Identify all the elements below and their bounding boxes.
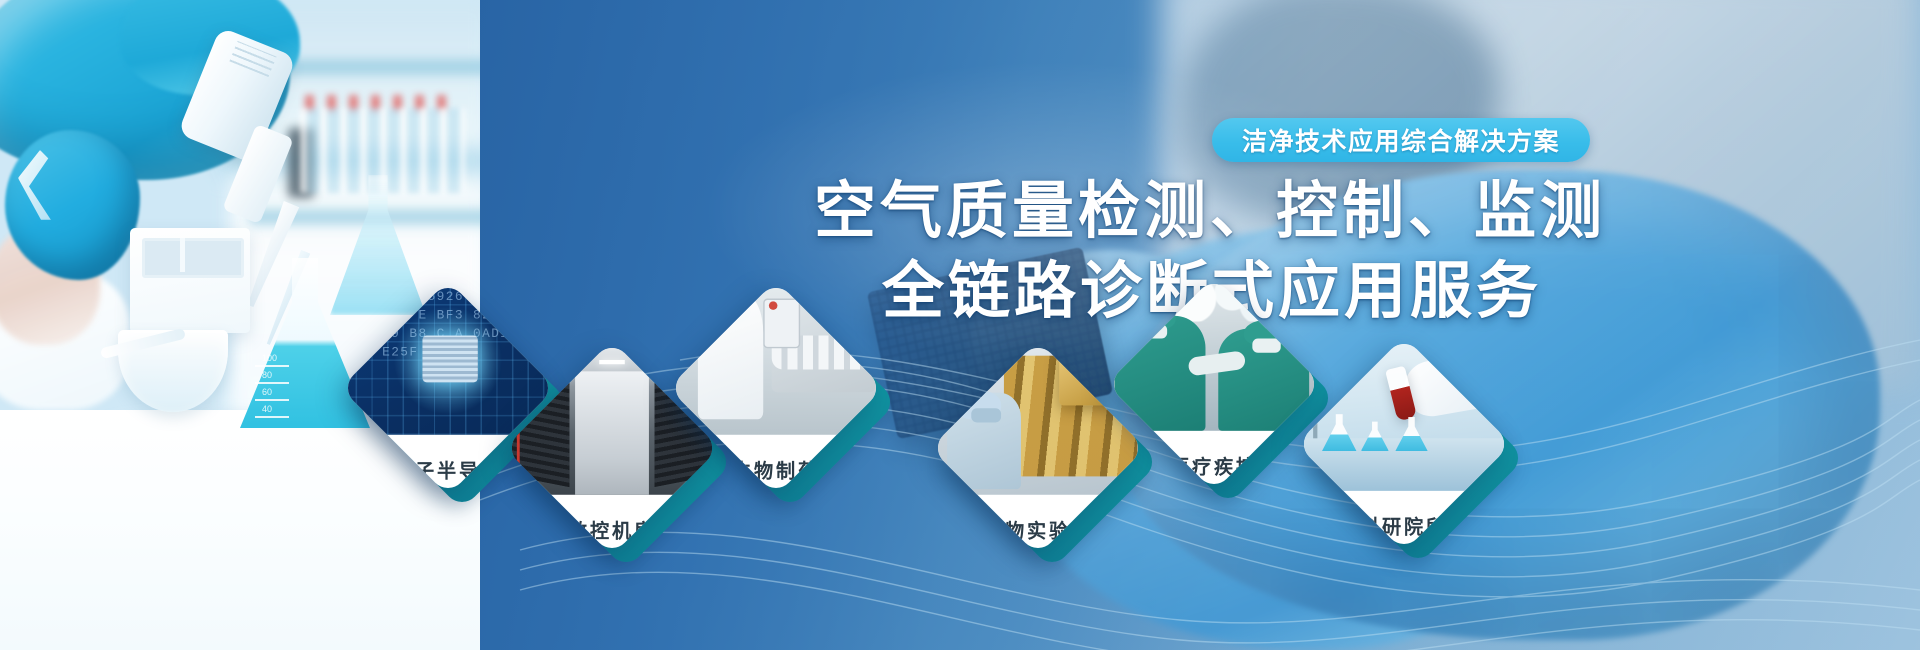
suit-visor (711, 300, 743, 308)
suit-hood (707, 293, 750, 324)
server-room-icon (505, 341, 720, 496)
card-photo (1297, 337, 1512, 492)
ceiling-light (599, 360, 625, 364)
card-photo: A E2 F D 5926 7 8 3 1 E2C A 0 E BF3 8269… (341, 281, 556, 436)
card-face[interactable]: 科研院所 (1297, 337, 1512, 552)
card-face[interactable]: 动物实验室 (931, 341, 1146, 556)
hero-banner: 100806040 (0, 0, 1920, 650)
surgical-lights (1166, 281, 1278, 321)
surgeon-mask-left (1138, 324, 1166, 338)
medical-surgery-icon (1107, 277, 1322, 432)
worker-mask (971, 408, 1001, 422)
card-label: 科研院所 (1297, 511, 1512, 539)
card-photo (931, 341, 1146, 496)
industry-card-row: A E2 F D 5926 7 8 3 1 E2C A 0 E BF3 8269… (0, 0, 1920, 650)
semiconductor-chip-icon: A E2 F D 5926 7 8 3 1 E2C A 0 E BF3 8269… (341, 281, 556, 436)
card-photo (669, 281, 884, 436)
chip-die (422, 336, 478, 383)
ceiling (547, 346, 676, 371)
card-label: 动物实验室 (931, 515, 1146, 543)
lab-flask-b (1361, 422, 1389, 452)
surgeon-cap-left (1132, 304, 1175, 330)
research-lab-icon (1297, 337, 1512, 492)
lab-flask-c (1395, 417, 1427, 451)
aisle-floor (575, 371, 648, 495)
cleanroom-suit (698, 296, 763, 420)
lab-flask-a (1322, 414, 1357, 451)
card-content: 动物实验室 (931, 341, 1146, 556)
card-photo (1107, 277, 1322, 432)
animal-lab-icon (931, 341, 1146, 496)
biopharma-icon (669, 281, 884, 436)
card-label: 数控机房 (505, 515, 720, 543)
card-content: 科研院所 (1297, 337, 1512, 552)
card-photo (505, 341, 720, 496)
surgeon-mask-right (1253, 338, 1281, 352)
